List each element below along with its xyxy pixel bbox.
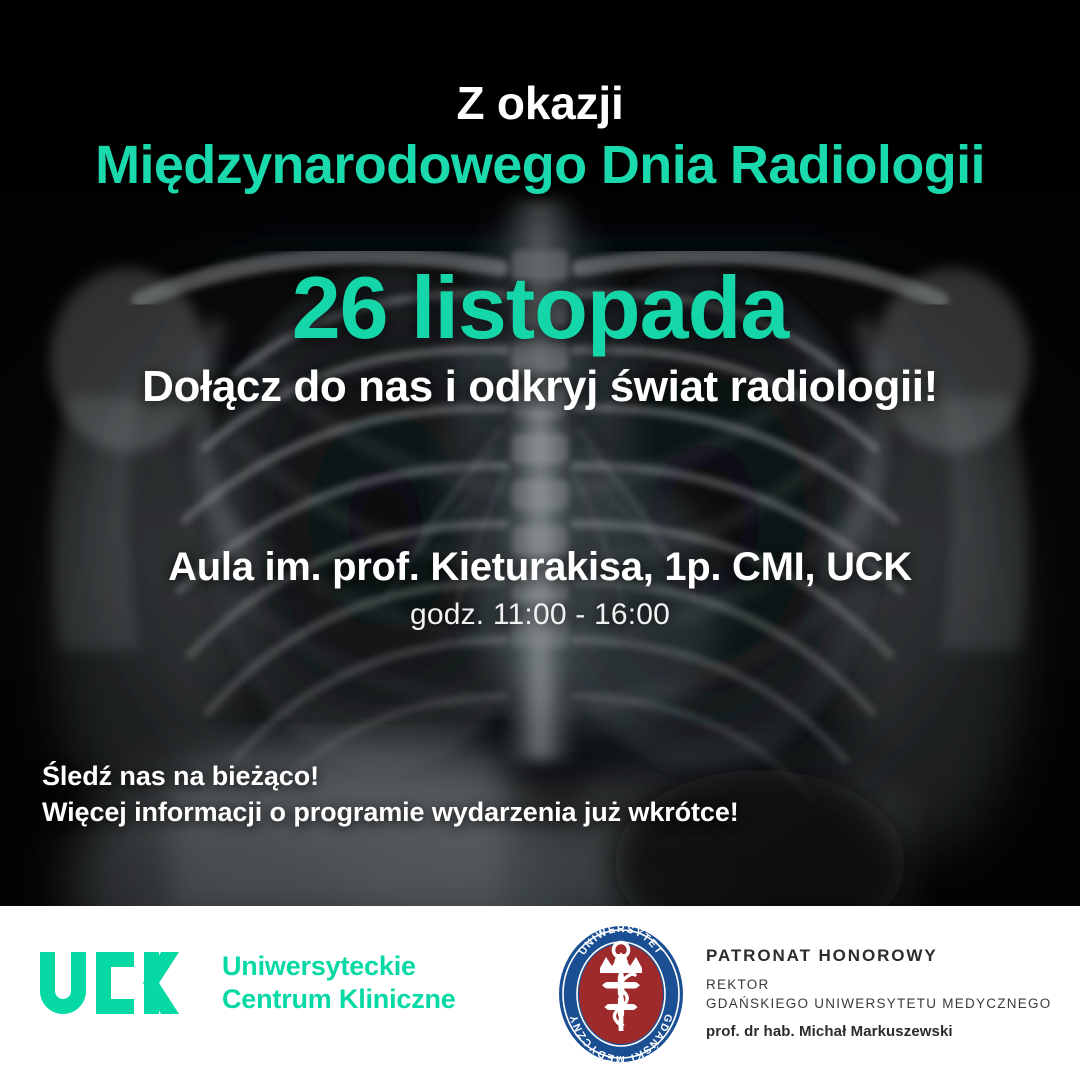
follow-us-line-2: Więcej informacji o programie wydarzenia…	[42, 794, 1002, 830]
patronage-title: PATRONAT HONOROWY	[706, 946, 1052, 966]
poster-root: Z okazji Międzynarodowego Dnia Radiologi…	[0, 0, 1080, 1080]
event-venue: Aula im. prof. Kieturakisa, 1p. CMI, UCK	[0, 545, 1080, 590]
uck-name-line-1: Uniwersyteckie	[222, 950, 456, 983]
patronage-role: REKTOR	[706, 975, 1052, 994]
patronage-text: PATRONAT HONOROWY REKTOR GDAŃSKIEGO UNIW…	[706, 924, 1052, 1040]
uck-monogram-icon	[40, 952, 200, 1014]
poster-content: Z okazji Międzynarodowego Dnia Radiologi…	[0, 0, 1080, 910]
uck-name-line-2: Centrum Kliniczne	[222, 983, 456, 1016]
gdansk-medical-university-seal-icon: UNIWERSYTET GDAŃSKI MEDYCZNY	[556, 924, 686, 1064]
uck-logo: Uniwersyteckie Centrum Kliniczne	[40, 950, 456, 1017]
follow-us-line-1: Śledź nas na bieżąco!	[42, 758, 1002, 794]
event-date: 26 listopada	[0, 257, 1080, 359]
event-title: Międzynarodowego Dnia Radiologii	[0, 134, 1080, 196]
occasion-line: Z okazji	[0, 76, 1080, 130]
patronage-block: UNIWERSYTET GDAŃSKI MEDYCZNY	[556, 924, 1052, 1064]
follow-us-block: Śledź nas na bieżąco! Więcej informacji …	[42, 758, 1002, 830]
footer-bar: Uniwersyteckie Centrum Kliniczne UNIW	[0, 906, 1080, 1080]
patronage-institution: GDAŃSKIEGO UNIWERSYTETU MEDYCZNEGO	[706, 994, 1052, 1013]
event-tagline: Dołącz do nas i odkryj świat radiologii!	[0, 362, 1080, 412]
uck-wordmark: Uniwersyteckie Centrum Kliniczne	[222, 950, 456, 1017]
patronage-person: prof. dr hab. Michał Markuszewski	[706, 1023, 1052, 1040]
event-hours: godz. 11:00 - 16:00	[0, 598, 1080, 632]
